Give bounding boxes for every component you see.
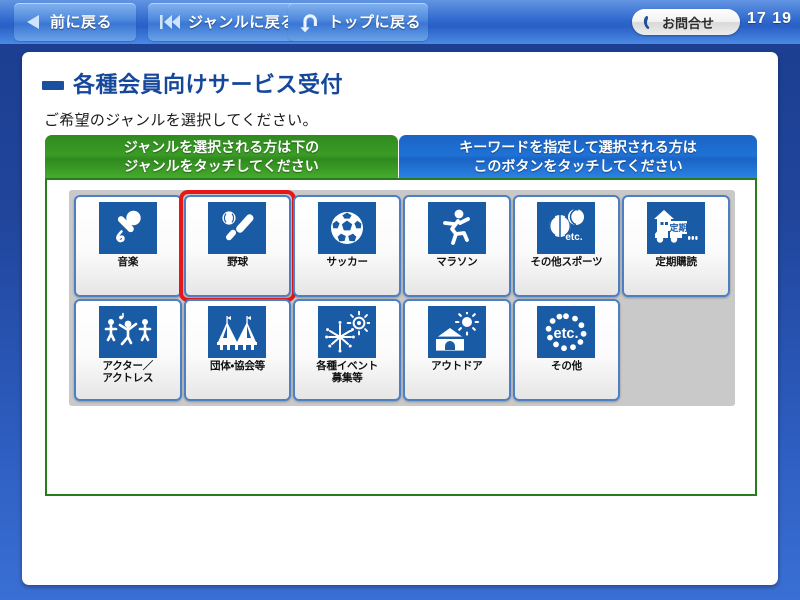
svg-text:定期: 定期 <box>670 222 688 233</box>
genre-button-subscription[interactable]: 定期 定期購読 <box>622 195 730 297</box>
microphone-icon <box>99 202 157 254</box>
genre-button-outdoor[interactable]: アウトドア <box>403 299 511 401</box>
clock-display: 17 19 <box>747 10 792 28</box>
tab-select-by-keyword[interactable]: キーワードを指定して選択される方は このボタンをタッチしてください <box>399 135 757 179</box>
phone-icon <box>642 15 655 30</box>
contact-button-label: お問合せ <box>662 13 714 32</box>
page-title-row: 各種会員向けサービス受付 <box>42 74 343 96</box>
genre-button-organization[interactable]: 団体・協会等 <box>184 299 292 401</box>
genre-button-other-sports-label: その他スポーツ <box>531 257 603 269</box>
other-sports-icon: etc. <box>537 202 595 254</box>
soccer-ball-icon <box>318 202 376 254</box>
back-to-top-button[interactable]: トップに戻る <box>288 3 428 41</box>
outdoor-icon <box>428 306 486 358</box>
genre-button-marathon[interactable]: マラソン <box>403 195 511 297</box>
page-subtitle: ご希望のジャンルを選択してください。 <box>44 109 318 130</box>
tab-strip: ジャンルを選択される方は下の ジャンルをタッチしてください キーワードを指定して… <box>45 135 757 179</box>
back-to-top-button-label: トップに戻る <box>328 15 421 30</box>
genre-cell-organization: 団体・協会等 <box>184 299 292 401</box>
genre-button-outdoor-label: アウトドア <box>431 361 483 373</box>
back-button[interactable]: 前に戻る <box>14 3 136 41</box>
genre-cell-soccer: サッカー <box>293 195 401 297</box>
genre-cell-outdoor: アウトドア <box>403 299 511 401</box>
genre-cell-other: etc. その他 <box>513 299 621 401</box>
genre-cell-baseball: 野球 <box>184 195 292 297</box>
page-title: 各種会員向けサービス受付 <box>73 74 343 96</box>
genre-button-music-label: 音楽 <box>118 257 139 269</box>
back-to-genre-button[interactable]: ジャンルに戻る <box>148 3 296 41</box>
fireworks-icon <box>318 306 376 358</box>
genre-button-actor-actress-label: アクター／ アクトレス <box>102 361 153 385</box>
genre-cell-other-sports: etc. その他スポーツ <box>513 195 621 297</box>
genre-cell-music: 音楽 <box>74 195 182 297</box>
genre-button-other[interactable]: etc. その他 <box>513 299 621 401</box>
genre-button-baseball[interactable]: 野球 <box>184 195 292 297</box>
skip-back-icon <box>158 12 182 32</box>
main-content-panel: 各種会員向けサービス受付 ご希望のジャンルを選択してください。 ジャンルを選択さ… <box>22 52 778 585</box>
genre-button-other-label: その他 <box>551 361 582 373</box>
genre-button-events-label: 各種イベント 募集等 <box>316 361 378 385</box>
title-dash-marker <box>42 81 64 90</box>
svg-text:etc.: etc. <box>566 232 583 243</box>
tab-select-by-keyword-line2: このボタンをタッチしてください <box>473 157 682 176</box>
genre-cell-empty <box>622 299 730 401</box>
genre-panel-frame: 音楽 <box>45 178 757 496</box>
genre-button-soccer[interactable]: サッカー <box>293 195 401 297</box>
tab-select-by-keyword-line1: キーワードを指定して選択される方は <box>459 138 697 157</box>
genre-button-marathon-label: マラソン <box>436 257 477 269</box>
genre-cell-actor-actress: アクター／ アクトレス <box>74 299 182 401</box>
contact-button[interactable]: お問合せ <box>632 9 740 35</box>
etc-circle-icon: etc. <box>537 306 595 358</box>
genre-button-soccer-label: サッカー <box>327 257 368 269</box>
top-navigation-bar: 前に戻る ジャンルに戻る トップに戻る お問合せ 17 19 <box>0 0 800 44</box>
genre-button-actor-actress[interactable]: アクター／ アクトレス <box>74 299 182 401</box>
genre-button-organization-label: 団体・協会等 <box>210 361 265 373</box>
triangle-left-icon <box>24 12 44 32</box>
baseball-icon <box>208 202 266 254</box>
runner-icon <box>428 202 486 254</box>
u-turn-arrow-icon <box>298 12 322 33</box>
tab-select-by-genre-line2: ジャンルをタッチしてください <box>124 157 318 176</box>
performers-icon <box>99 306 157 358</box>
genre-cell-marathon: マラソン <box>403 195 511 297</box>
tab-select-by-genre[interactable]: ジャンルを選択される方は下の ジャンルをタッチしてください <box>45 135 398 179</box>
svg-text:etc.: etc. <box>554 326 579 342</box>
tent-icon <box>208 306 266 358</box>
genre-button-subscription-label: 定期購読 <box>656 257 697 269</box>
genre-button-baseball-label: 野球 <box>227 257 248 269</box>
genre-cell-events: 各種イベント 募集等 <box>293 299 401 401</box>
delivery-truck-icon: 定期 <box>647 202 705 254</box>
back-button-label: 前に戻る <box>50 15 112 30</box>
genre-button-events[interactable]: 各種イベント 募集等 <box>293 299 401 401</box>
back-to-genre-button-label: ジャンルに戻る <box>188 15 296 30</box>
tab-select-by-genre-line1: ジャンルを選択される方は下の <box>124 138 319 157</box>
genre-cell-subscription: 定期 定期購読 <box>622 195 730 297</box>
genre-button-grid: 音楽 <box>69 190 735 406</box>
genre-button-other-sports[interactable]: etc. その他スポーツ <box>513 195 621 297</box>
genre-button-music[interactable]: 音楽 <box>74 195 182 297</box>
